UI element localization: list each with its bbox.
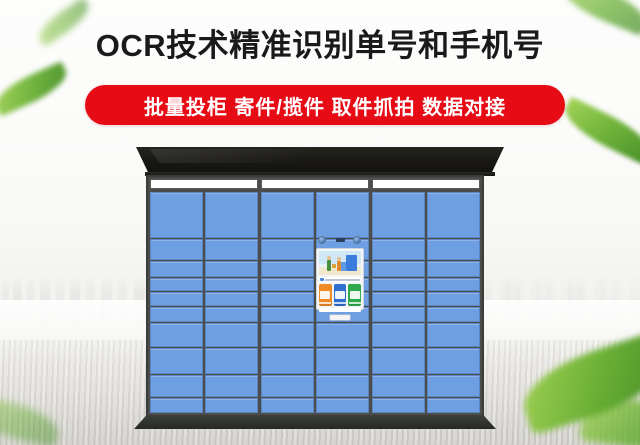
locker-door[interactable]: [261, 348, 314, 373]
locker-door[interactable]: [427, 375, 480, 397]
locker-door[interactable]: [261, 239, 314, 260]
header-panel-left: [150, 179, 258, 189]
header-panel-right: [372, 179, 480, 189]
locker-door[interactable]: [150, 278, 203, 292]
screen-button-send[interactable]: [319, 284, 332, 306]
customer-figure-icon: [337, 261, 341, 271]
locker-door[interactable]: [150, 192, 203, 238]
locker-door[interactable]: [372, 261, 425, 276]
locker-door[interactable]: [372, 323, 425, 348]
locker-door[interactable]: [150, 323, 203, 348]
promo-banner: OCR技术精准识别单号和手机号 批量投柜 寄件/揽件 取件抓拍 数据对接: [0, 0, 640, 445]
locker-door[interactable]: [372, 292, 425, 306]
locker-column: [261, 192, 314, 413]
ticker-text-line: [325, 279, 360, 281]
locker-door[interactable]: [316, 192, 369, 238]
locker-bay: [150, 192, 258, 413]
locker-door[interactable]: [261, 261, 314, 276]
more-options-label: [348, 302, 361, 305]
locker-door[interactable]: [427, 292, 480, 306]
locker-door[interactable]: [261, 398, 314, 413]
locker-door[interactable]: [205, 239, 258, 260]
locker-door[interactable]: [261, 375, 314, 397]
locker-door[interactable]: [205, 348, 258, 373]
screen-footer-bar: [319, 308, 361, 312]
locker-door[interactable]: [427, 348, 480, 373]
locker-door[interactable]: [427, 307, 480, 322]
screen-button-more[interactable]: [348, 284, 361, 306]
locker-door[interactable]: [372, 192, 425, 238]
locker-column: [372, 192, 425, 413]
locker-door[interactable]: [427, 323, 480, 348]
locker-door[interactable]: [205, 375, 258, 397]
locker-column: [427, 192, 480, 413]
locker-door[interactable]: [150, 261, 203, 276]
smart-locker-cabinet: [0, 0, 640, 445]
screen-notice-ticker: [319, 277, 361, 282]
more-options-icon: [350, 291, 360, 299]
card-reader-slot[interactable]: [329, 314, 351, 321]
locker-door[interactable]: [427, 261, 480, 276]
locker-door[interactable]: [150, 398, 203, 413]
locker-door[interactable]: [205, 398, 258, 413]
screen-action-buttons: [319, 284, 361, 306]
screen-banner-illustration: [319, 251, 361, 275]
pickup-parcel-label: [334, 302, 347, 305]
locker-door[interactable]: [150, 239, 203, 260]
locker-door[interactable]: [150, 307, 203, 322]
locker-door[interactable]: [372, 307, 425, 322]
screen-button-pickup[interactable]: [334, 284, 347, 306]
locker-door[interactable]: [205, 307, 258, 322]
pickup-parcel-icon: [335, 291, 345, 299]
locker-door[interactable]: [261, 278, 314, 292]
canopy-highlight: [150, 149, 310, 163]
cabinet-header-strip: [148, 177, 482, 191]
camera-icon-left: [318, 236, 326, 244]
ticker-badge-icon: [320, 278, 324, 281]
locker-door[interactable]: [316, 375, 369, 397]
feature-badge-text: 批量投柜 寄件/揽件 取件抓拍 数据对接: [85, 85, 565, 125]
feature-badge: 批量投柜 寄件/揽件 取件抓拍 数据对接: [85, 85, 565, 125]
header-panel-center: [261, 179, 369, 189]
locker-door[interactable]: [316, 398, 369, 413]
send-parcel-icon: [320, 291, 330, 299]
locker-door[interactable]: [427, 192, 480, 238]
delivery-truck-icon: [346, 255, 357, 271]
locker-door[interactable]: [205, 323, 258, 348]
locker-door[interactable]: [427, 239, 480, 260]
locker-door[interactable]: [205, 292, 258, 306]
locker-door[interactable]: [372, 398, 425, 413]
courier-figure-icon: [327, 260, 331, 271]
locker-door[interactable]: [150, 375, 203, 397]
kiosk-terminal[interactable]: [311, 234, 369, 330]
kiosk-screen[interactable]: [316, 248, 364, 310]
locker-door[interactable]: [205, 261, 258, 276]
locker-door[interactable]: [427, 398, 480, 413]
locker-door[interactable]: [372, 348, 425, 373]
locker-door[interactable]: [261, 323, 314, 348]
page-title: OCR技术精准识别单号和手机号: [0, 26, 640, 66]
locker-door[interactable]: [205, 278, 258, 292]
locker-door[interactable]: [372, 375, 425, 397]
locker-door[interactable]: [205, 192, 258, 238]
locker-door[interactable]: [372, 278, 425, 292]
locker-door[interactable]: [316, 348, 369, 373]
locker-door[interactable]: [427, 278, 480, 292]
locker-door[interactable]: [150, 348, 203, 373]
locker-bay: [372, 192, 480, 413]
locker-door[interactable]: [150, 292, 203, 306]
parcel-box-icon: [332, 264, 336, 268]
locker-door[interactable]: [261, 307, 314, 322]
locker-door[interactable]: [261, 292, 314, 306]
send-parcel-label: [319, 302, 332, 305]
locker-column: [205, 192, 258, 413]
locker-column: [150, 192, 203, 413]
locker-door[interactable]: [261, 192, 314, 238]
locker-door[interactable]: [372, 239, 425, 260]
sensor-row: [311, 234, 369, 246]
cabinet-base-plinth: [134, 415, 496, 429]
camera-icon-right: [353, 236, 361, 244]
scanner-bar-icon: [336, 238, 345, 242]
